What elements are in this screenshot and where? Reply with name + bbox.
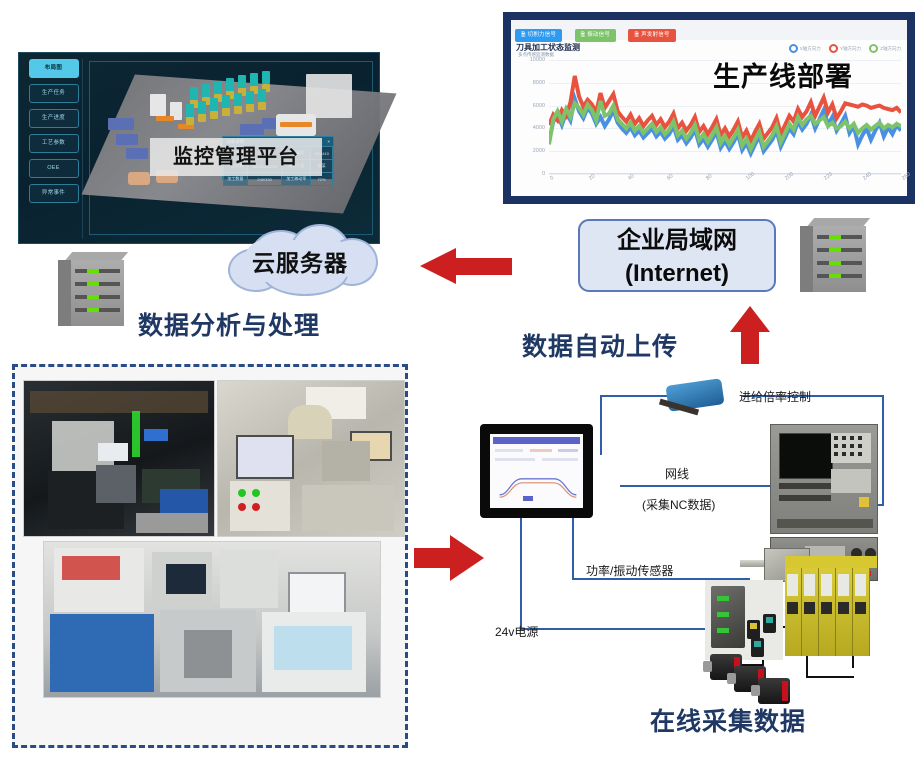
legend-marker-icon	[829, 44, 838, 53]
cnc-softkey-row	[779, 495, 831, 501]
y-tick-label: 2000	[533, 148, 545, 154]
key	[834, 436, 838, 440]
cnc-amber-key	[859, 497, 869, 507]
key	[858, 444, 862, 448]
machine-unit	[202, 84, 210, 97]
machine-unit	[198, 114, 206, 122]
button-vibration-signal[interactable]: 🗎振动信号	[575, 29, 616, 42]
sidebar-item-progress[interactable]: 生产进度	[29, 109, 79, 128]
drive-module	[785, 568, 802, 656]
hmi-screen	[236, 435, 294, 479]
hmi-row	[495, 449, 523, 452]
machine-unit	[246, 104, 254, 112]
server-rack-left	[58, 252, 134, 328]
photo-detail	[98, 443, 128, 461]
photo-detail	[62, 556, 120, 580]
key	[850, 444, 854, 448]
machine-unit	[234, 106, 242, 114]
machine-unit	[262, 71, 270, 84]
arrow-machines-to-collection	[414, 535, 484, 581]
key	[850, 436, 854, 440]
sidebar-item-task[interactable]: 生产任务	[29, 84, 79, 103]
document-icon: 🗎	[634, 32, 639, 38]
connector-plug	[763, 614, 776, 633]
machine-photo-grinder	[217, 380, 405, 537]
enterprise-lan-box: 企业局域网 (Internet)	[578, 219, 776, 292]
arrow-head	[730, 306, 770, 332]
legend-marker-icon	[869, 44, 878, 53]
machine-unit	[222, 95, 230, 108]
x-tick-label: 260	[901, 171, 912, 181]
chart-legend: X轴方向力 Y轴方向力 Z轴方向力	[782, 44, 901, 53]
y-tick-label: 6000	[533, 103, 545, 109]
machine-unit	[108, 118, 134, 130]
mes-sidebar: 布局图 生产任务 生产进度 工艺参数 OEE 异常事件	[25, 59, 83, 239]
arrow-shaft	[414, 548, 452, 568]
cnc-controller	[770, 424, 878, 534]
motor-shaft	[727, 673, 736, 684]
cloud-server-shape: 云服务器	[222, 222, 378, 294]
drive-window	[821, 574, 832, 596]
status-led	[829, 261, 841, 265]
plug-pin	[766, 617, 773, 623]
button-label: 切削力信号	[528, 32, 557, 38]
hmi-row	[558, 449, 578, 452]
drive-module	[819, 568, 836, 656]
indicator-light	[144, 429, 168, 441]
arrow-shaft	[741, 330, 759, 364]
amr-deck	[280, 122, 312, 127]
machine-unit	[222, 108, 230, 116]
caption-data-analysis: 数据分析与处理	[138, 306, 320, 342]
industrial-hmi-panel[interactable]	[480, 424, 593, 518]
connector-plug	[747, 620, 760, 639]
y-tick-label: 10000	[530, 57, 545, 63]
hmi-title-bar	[493, 437, 580, 444]
enterprise-lan-line1: 企业局域网	[580, 221, 774, 257]
pallet-unit	[128, 172, 150, 185]
drive-module	[802, 568, 819, 656]
wire-ethernet-nc	[620, 485, 772, 487]
photo-detail	[274, 626, 352, 670]
key	[834, 444, 838, 448]
legend-entry-x[interactable]: X轴方向力	[789, 46, 821, 51]
servo-drive-stack	[785, 556, 877, 656]
chart-card: 🗎切削力信号 🗎振动信号 🗎声发射信号 刀具加工状态监测 多点传感监测数据 X轴…	[511, 20, 907, 196]
motor-shaft	[751, 685, 760, 696]
sidebar-item-process-params[interactable]: 工艺参数	[29, 134, 79, 153]
drive-module	[853, 568, 870, 656]
arrow-shaft	[454, 258, 512, 275]
sidebar-item-layout[interactable]: 布局图	[29, 59, 79, 78]
document-icon: 🗎	[581, 32, 586, 38]
server-side	[800, 226, 814, 292]
machine-photo-cell	[43, 541, 381, 698]
hmi-row	[542, 458, 578, 461]
machine-unit	[234, 93, 242, 106]
status-led	[87, 295, 99, 299]
button-label: 振动信号	[587, 32, 610, 38]
caption-auto-upload: 数据自动上传	[522, 327, 678, 363]
arrow-internet-to-cloud	[420, 248, 512, 284]
machine-unit	[246, 91, 254, 104]
server-front	[71, 260, 124, 326]
hmi-row	[495, 458, 535, 461]
machine-unit	[226, 78, 234, 91]
photo-detail	[136, 513, 208, 533]
photo-detail	[288, 405, 332, 439]
machine-unit	[210, 98, 218, 111]
drive-connector	[804, 602, 815, 614]
wire-feed-override-right	[882, 395, 884, 505]
y-tick-label: 8000	[533, 80, 545, 86]
data-acquisition-gateway	[705, 580, 783, 660]
drive-connector	[787, 602, 798, 614]
indicator-light	[252, 503, 260, 511]
machine-unit	[186, 117, 194, 125]
indicator-light	[238, 503, 246, 511]
motor-label	[782, 681, 788, 701]
machine-unit	[258, 89, 266, 102]
machine-equipment-photo-group	[12, 364, 408, 748]
status-led	[87, 308, 99, 312]
cnc-soft-panel	[831, 469, 871, 493]
sidebar-item-oee[interactable]: OEE	[29, 159, 79, 178]
legend-label: Z轴方向力	[880, 46, 901, 51]
sidebar-item-exception[interactable]: 异常事件	[29, 184, 79, 203]
servo-motor	[758, 678, 790, 704]
hmi-trend-curve	[498, 474, 578, 498]
machine-unit	[250, 73, 258, 86]
legend-marker-icon	[789, 44, 798, 53]
status-led	[717, 612, 729, 617]
label-nc-data: (采集NC数据)	[642, 496, 715, 513]
wire-hmi-down-1	[520, 518, 522, 630]
y-tick-label: 0	[542, 171, 545, 177]
photo-detail	[322, 441, 370, 481]
drive-window	[787, 574, 798, 596]
document-icon: 🗎	[521, 32, 526, 38]
drive-connector	[821, 602, 832, 614]
servo-motor-group	[702, 654, 810, 708]
machine-unit	[150, 94, 166, 116]
drive-connector	[838, 602, 849, 614]
arrow-upload-to-lan	[730, 306, 770, 364]
power-wire	[806, 676, 854, 678]
motor-shaft	[703, 661, 712, 672]
label-feed-override: 进给倍率控制	[739, 388, 811, 405]
hmi-row	[530, 449, 552, 452]
warehouse-block	[306, 74, 352, 118]
button-cutting-force-signal[interactable]: 🗎切削力信号	[515, 29, 562, 42]
status-led	[87, 269, 99, 273]
server-rack-right	[800, 218, 876, 294]
machine-unit	[238, 75, 246, 88]
indicator-light	[252, 489, 260, 497]
cnc-keypad	[831, 433, 871, 463]
key	[842, 444, 846, 448]
cnc-bottom-bar	[777, 519, 873, 528]
legend-label: Y轴方向力	[840, 46, 861, 51]
label-ethernet: 网线	[665, 465, 689, 482]
x-tick-label: 0	[549, 175, 555, 182]
machine-unit	[198, 101, 206, 114]
key	[850, 452, 854, 456]
gridline	[549, 174, 901, 175]
key	[858, 436, 862, 440]
key	[858, 452, 862, 456]
legend-label: X轴方向力	[800, 46, 821, 51]
production-line-deploy-banner: 生产线部署	[713, 55, 853, 94]
indicator-light	[238, 489, 246, 497]
photo-detail	[50, 614, 154, 692]
machine-photo-shopfloor	[23, 380, 215, 537]
machine-unit	[258, 102, 266, 110]
indicator-light	[132, 411, 140, 457]
label-24v-power: 24v电源	[495, 623, 538, 640]
status-led	[829, 235, 841, 239]
drive-connector	[855, 602, 866, 614]
server-front	[813, 226, 866, 292]
hmi-screen	[166, 564, 206, 594]
button-label: 声发射信号	[641, 32, 670, 38]
status-led	[717, 596, 729, 601]
photo-detail	[302, 485, 394, 531]
arrow-head	[420, 248, 456, 284]
plug-pin	[750, 623, 757, 629]
key	[842, 452, 846, 456]
wire-feed-override-left	[600, 395, 602, 455]
wire-hmi-down-2	[572, 518, 574, 580]
chart-x-axis	[549, 173, 901, 174]
drive-window	[855, 574, 866, 596]
machine-unit	[126, 148, 148, 159]
hmi-screen	[490, 434, 583, 508]
machine-unit	[116, 134, 138, 145]
legend-entry-y[interactable]: Y轴方向力	[829, 46, 861, 51]
key	[834, 452, 838, 456]
machine-unit	[190, 87, 198, 100]
close-icon[interactable]: ×	[327, 137, 330, 146]
machine-unit	[210, 111, 218, 119]
plug-pin	[754, 641, 761, 647]
machine-unit	[214, 81, 222, 94]
machine-unit	[240, 124, 264, 135]
status-led	[717, 628, 729, 633]
cnc-screen	[779, 433, 833, 479]
server-side	[58, 260, 72, 326]
enterprise-lan-line2: (Internet)	[580, 257, 774, 290]
status-led	[87, 282, 99, 286]
button-acoustic-emission-signal[interactable]: 🗎声发射信号	[628, 29, 675, 42]
machine-unit	[156, 116, 174, 121]
hmi-footer-button	[523, 496, 533, 501]
photo-detail	[30, 391, 208, 413]
y-tick-label: 4000	[533, 125, 545, 131]
machine-unit	[186, 104, 194, 117]
arrow-head	[450, 535, 484, 581]
drive-module	[836, 568, 853, 656]
label-power-vibration-sensor: 功率/振动传感器	[586, 562, 673, 579]
drive-window	[804, 574, 815, 596]
photo-detail	[184, 630, 232, 678]
status-led	[829, 274, 841, 278]
drive-window	[838, 574, 849, 596]
production-line-chart-panel: 🗎切削力信号 🗎振动信号 🗎声发射信号 刀具加工状态监测 多点传感监测数据 X轴…	[503, 12, 915, 204]
photo-detail	[220, 550, 278, 608]
legend-entry-z[interactable]: Z轴方向力	[869, 46, 901, 51]
cnc-softkey-row	[779, 483, 831, 489]
key	[842, 436, 846, 440]
hmi-screen	[288, 572, 346, 616]
cloud-server-label: 云服务器	[222, 244, 378, 278]
gateway-body	[711, 586, 745, 648]
drive-top	[785, 556, 877, 568]
status-led	[829, 248, 841, 252]
monitoring-platform-caption: 监控管理平台	[150, 138, 322, 176]
feed-override-module	[657, 378, 737, 420]
chart-button-bar: 🗎切削力信号 🗎振动信号 🗎声发射信号	[511, 20, 907, 40]
photo-detail	[96, 465, 136, 503]
